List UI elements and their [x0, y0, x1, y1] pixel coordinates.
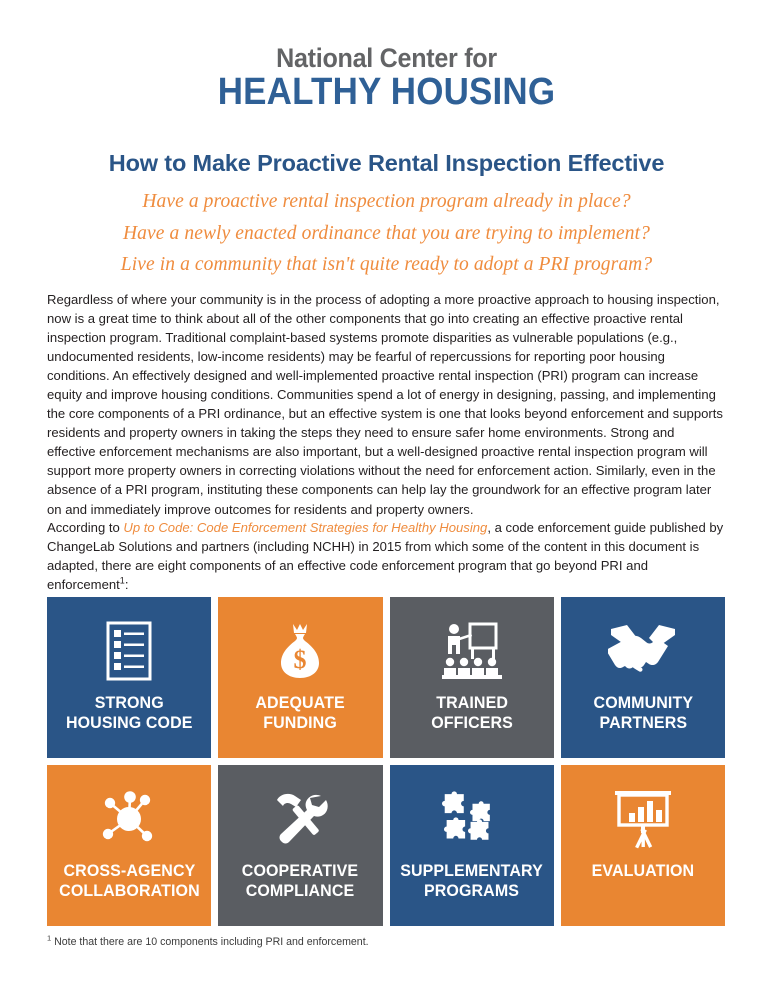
- source-end-colon: :: [125, 577, 129, 592]
- footnote: 1 Note that there are 10 components incl…: [47, 935, 725, 950]
- bar-chart-easel-icon: [611, 785, 675, 853]
- hammer-wrench-icon: [269, 785, 331, 853]
- checklist-icon: [106, 617, 152, 685]
- puzzle-pieces-icon: [442, 785, 502, 853]
- tile-label-line1: COOPERATIVE: [242, 862, 358, 880]
- component-tile-label: TRAINED OFFICERS: [427, 693, 516, 734]
- logo-line-national-center: National Center for: [27, 44, 746, 72]
- handshake-icon: [608, 617, 678, 685]
- component-tile-strong-housing-code[interactable]: STRONG HOUSING CODE: [47, 597, 211, 758]
- source-paragraph: According to Up to Code: Code Enforcemen…: [47, 518, 725, 594]
- component-tile-trained-officers[interactable]: TRAINED OFFICERS: [390, 597, 554, 758]
- tile-label-line1: TRAINED: [436, 694, 508, 712]
- component-tile-label: CROSS-AGENCY COLLABORATION: [55, 861, 203, 902]
- intro-question-2: Have a newly enacted ordinance that you …: [0, 218, 773, 250]
- component-tile-label: EVALUATION: [588, 861, 698, 881]
- tile-label-line2: COLLABORATION: [59, 882, 200, 900]
- tile-label-line1: SUPPLEMENTARY: [400, 862, 543, 880]
- network-nodes-icon: [97, 785, 161, 853]
- component-tile-label: STRONG HOUSING CODE: [62, 693, 196, 734]
- page-title: How to Make Proactive Rental Inspection …: [0, 150, 773, 177]
- up-to-code-link[interactable]: Up to Code: Code Enforcement Strategies …: [123, 520, 487, 535]
- component-tile-cooperative-compliance[interactable]: COOPERATIVE COMPLIANCE: [218, 765, 382, 926]
- svg-text:$: $: [294, 645, 307, 674]
- tile-label-line2: PROGRAMS: [424, 882, 519, 900]
- training-presentation-icon: [440, 617, 504, 685]
- source-prefix-text: According to: [47, 520, 123, 535]
- main-paragraph: Regardless of where your community is in…: [47, 290, 725, 519]
- component-tile-label: COOPERATIVE COMPLIANCE: [238, 861, 362, 902]
- tile-label-line1: STRONG: [95, 694, 164, 712]
- intro-question-3: Live in a community that isn't quite rea…: [0, 249, 773, 281]
- component-tile-evaluation[interactable]: EVALUATION: [561, 765, 725, 926]
- tile-label-line2: HOUSING CODE: [66, 714, 193, 732]
- component-tile-community-partners[interactable]: COMMUNITY PARTNERS: [561, 597, 725, 758]
- tile-label-line2: OFFICERS: [431, 714, 513, 732]
- intro-questions: Have a proactive rental inspection progr…: [0, 186, 773, 281]
- tile-label-line2: FUNDING: [264, 714, 338, 732]
- components-grid: STRONG HOUSING CODE $ ADEQUATE FUNDING: [47, 597, 725, 926]
- component-tile-adequate-funding[interactable]: $ ADEQUATE FUNDING: [218, 597, 382, 758]
- footnote-text: Note that there are 10 components includ…: [51, 936, 368, 948]
- component-tile-label: COMMUNITY PARTNERS: [589, 693, 696, 734]
- money-bag-icon: $: [276, 617, 324, 685]
- intro-question-1: Have a proactive rental inspection progr…: [0, 186, 773, 218]
- tile-label-line2: COMPLIANCE: [246, 882, 355, 900]
- component-tile-cross-agency-collaboration[interactable]: CROSS-AGENCY COLLABORATION: [47, 765, 211, 926]
- tile-label-line1: COMMUNITY: [593, 694, 693, 712]
- tile-label-line1: EVALUATION: [592, 862, 695, 880]
- tile-label-line1: ADEQUATE: [256, 694, 345, 712]
- logo-line-healthy-housing: HEALTHY HOUSING: [31, 73, 742, 113]
- component-tile-label: SUPPLEMENTARY PROGRAMS: [396, 861, 546, 902]
- component-tile-supplementary-programs[interactable]: SUPPLEMENTARY PROGRAMS: [390, 765, 554, 926]
- tile-label-line2: PARTNERS: [599, 714, 687, 732]
- organization-logo: National Center for HEALTHY HOUSING: [0, 44, 773, 113]
- document-page: National Center for HEALTHY HOUSING How …: [0, 0, 773, 1000]
- component-tile-label: ADEQUATE FUNDING: [252, 693, 349, 734]
- tile-label-line1: CROSS-AGENCY: [63, 862, 195, 880]
